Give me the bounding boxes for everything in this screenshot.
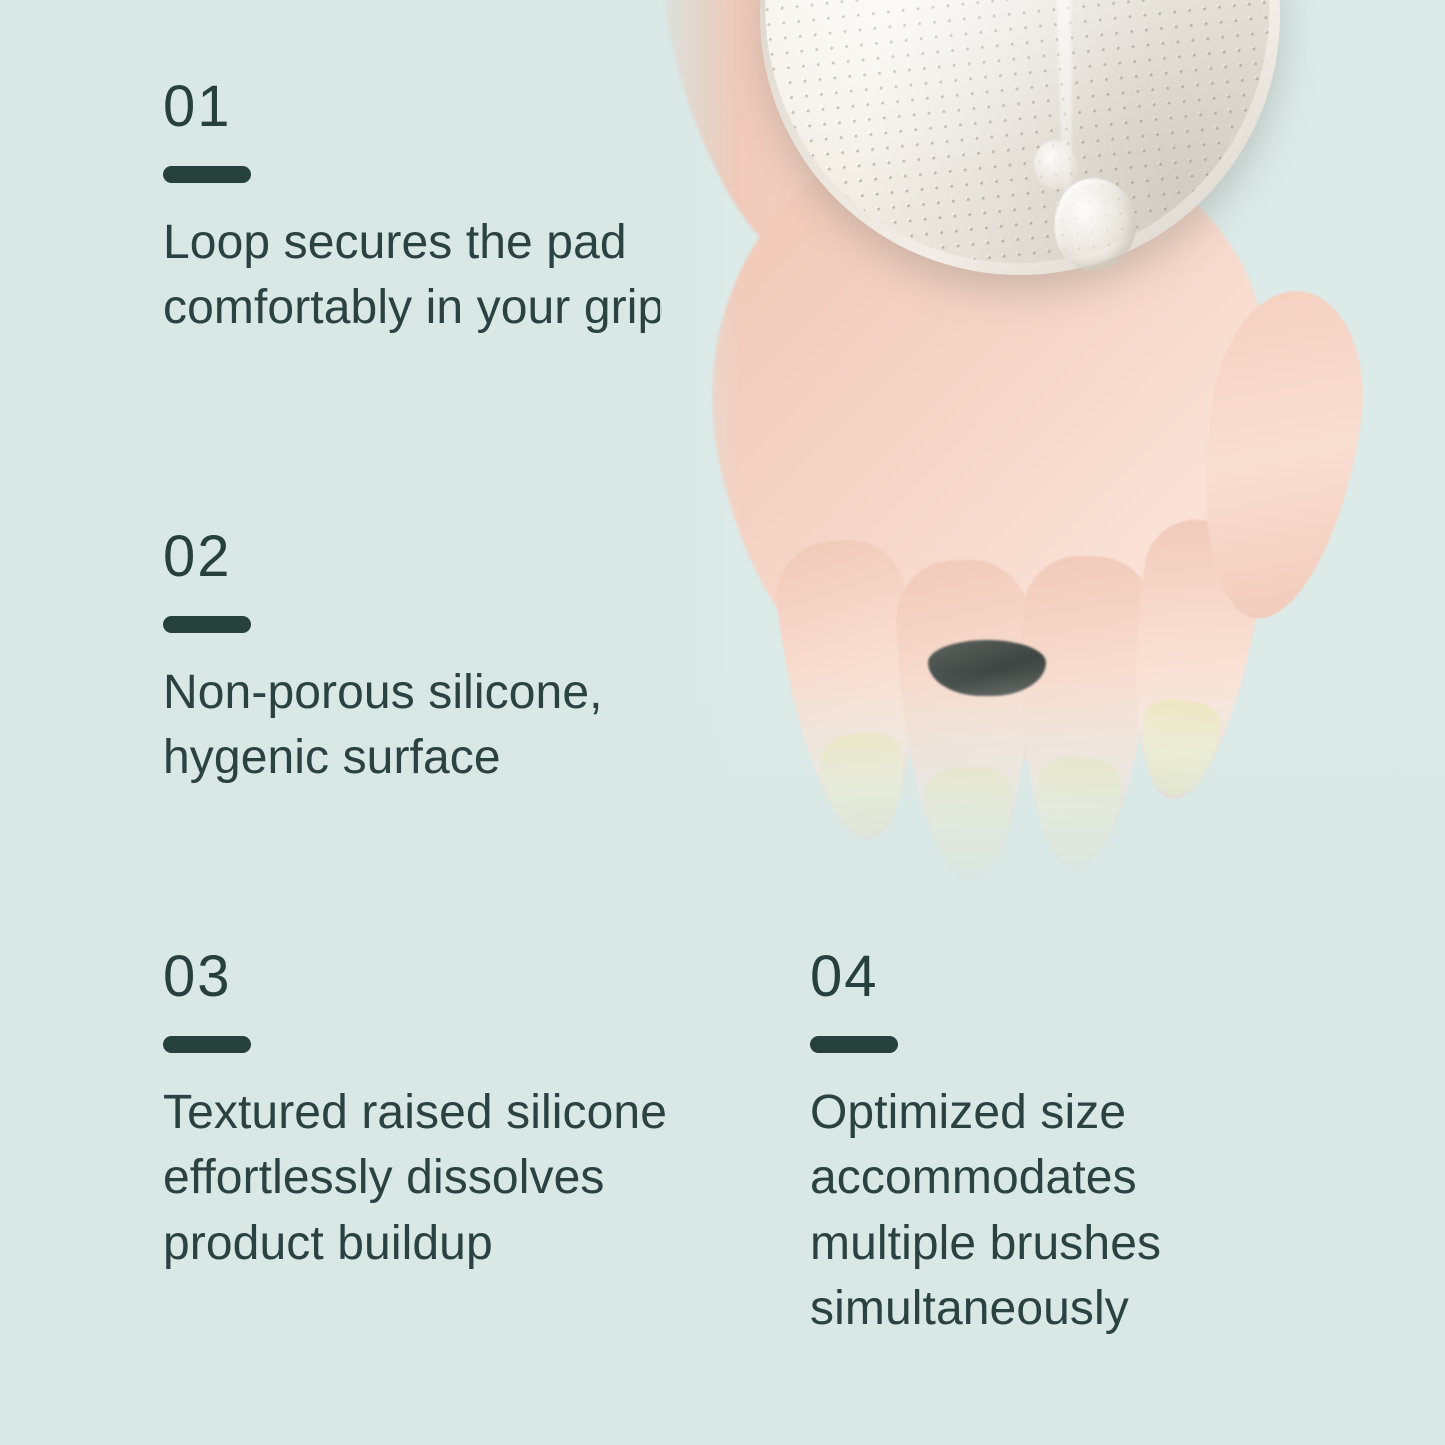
feature-divider-dash: [163, 166, 251, 183]
feature-description: Non-porous silicone, hygenic surface: [163, 633, 663, 791]
feature-description: Optimized size accommodates multiple bru…: [810, 1053, 1310, 1341]
pad-surface: [740, 0, 1294, 288]
feature-number: 02: [163, 528, 663, 586]
photo-backdrop: [660, 0, 1445, 900]
finger-shape: [894, 558, 1037, 882]
feature-divider-dash: [163, 1036, 251, 1053]
feature-block-01: 01 Loop secures the pad comfortably in y…: [163, 78, 703, 341]
feature-number: 01: [163, 78, 703, 136]
feature-description: Loop secures the pad comfortably in your…: [163, 183, 703, 341]
feature-block-04: 04 Optimized size accommodates multiple …: [810, 948, 1310, 1341]
feature-divider-dash: [163, 616, 251, 633]
feature-description: Textured raised silicone effortlessly di…: [163, 1053, 703, 1276]
feature-divider-dash: [810, 1036, 898, 1053]
feature-number: 04: [810, 948, 1310, 1006]
product-feature-infographic: 01 Loop secures the pad comfortably in y…: [0, 0, 1445, 1445]
feature-block-02: 02 Non-porous silicone, hygenic surface: [163, 528, 663, 791]
fingernail-shape: [925, 766, 1013, 878]
product-photo: [660, 0, 1445, 900]
fingernail-shape: [1135, 695, 1223, 800]
fingernail-shape: [1034, 756, 1123, 866]
fingernail-shape: [817, 729, 911, 840]
feature-block-03: 03 Textured raised silicone effortlessly…: [163, 948, 703, 1276]
finger-shape: [1010, 553, 1156, 871]
feature-number: 03: [163, 948, 703, 1006]
